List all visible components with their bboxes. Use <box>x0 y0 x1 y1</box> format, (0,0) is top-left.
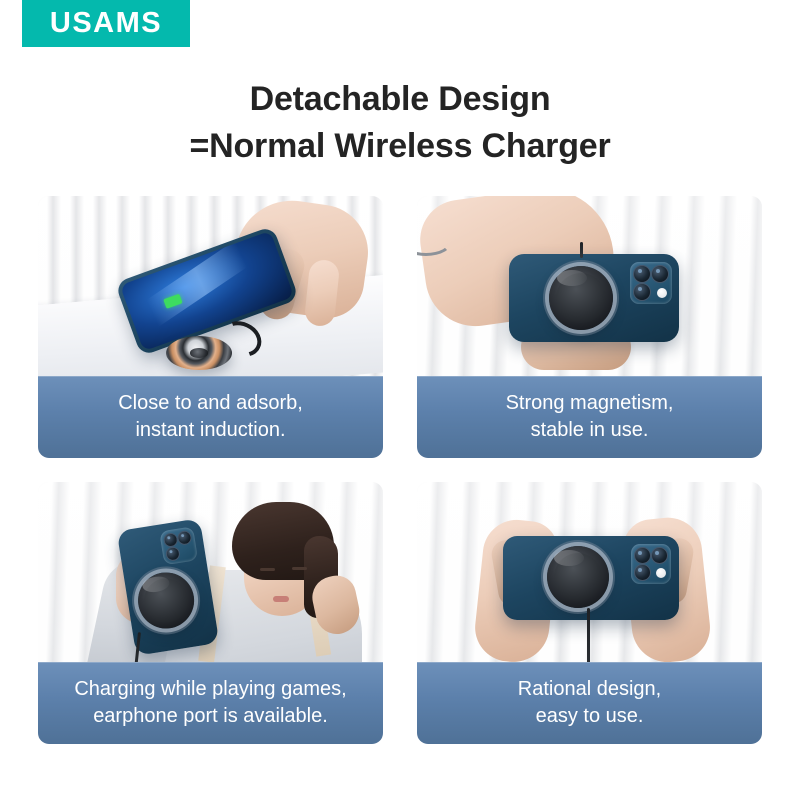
caption-line-1: Charging while playing games, <box>74 676 346 703</box>
camera-lens <box>634 564 651 581</box>
camera-lens <box>165 546 181 562</box>
magnetic-charger-puck <box>549 266 613 330</box>
caption-line-1: Strong magnetism, <box>506 390 674 417</box>
feature-photo-close-and-adsorb <box>38 196 383 376</box>
caption-line-1: Rational design, <box>518 676 661 703</box>
person-eye <box>292 567 307 570</box>
camera-lens <box>634 547 651 564</box>
phone-device <box>509 254 679 342</box>
camera-lens <box>163 532 179 548</box>
feature-card-close-and-adsorb: Close to and adsorb, instant induction. <box>38 196 383 458</box>
headline-line-1: Detachable Design <box>0 76 800 123</box>
feature-card-charging-while-gaming: Charging while playing games, earphone p… <box>38 482 383 744</box>
feature-caption-rational-design: Rational design, easy to use. <box>417 662 762 744</box>
caption-line-2: earphone port is available. <box>93 703 328 730</box>
page-title: Detachable Design =Normal Wireless Charg… <box>0 76 800 170</box>
camera-lens <box>633 283 651 301</box>
magnetic-charger-puck <box>547 546 609 608</box>
feature-photo-rational-design <box>417 482 762 662</box>
camera-lens <box>633 265 651 283</box>
camera-module <box>159 526 198 565</box>
camera-module <box>630 262 672 304</box>
caption-line-1: Close to and adsorb, <box>118 390 303 417</box>
person-mouth <box>273 596 289 602</box>
feature-caption-charging-while-gaming: Charging while playing games, earphone p… <box>38 662 383 744</box>
feature-photo-strong-magnetism <box>417 196 762 376</box>
charger-cable <box>580 242 583 258</box>
magnetic-charger-puck <box>134 568 198 632</box>
phone-device <box>503 536 679 620</box>
camera-flash <box>657 288 667 298</box>
camera-lens <box>651 547 668 564</box>
camera-lens <box>176 530 192 546</box>
headline-line-2: =Normal Wireless Charger <box>0 123 800 170</box>
feature-caption-close-and-adsorb: Close to and adsorb, instant induction. <box>38 376 383 458</box>
feature-photo-charging-while-gaming <box>38 482 383 662</box>
feature-grid: Close to and adsorb, instant induction. <box>38 196 762 744</box>
charger-cable <box>587 608 590 662</box>
caption-line-2: instant induction. <box>135 417 285 444</box>
brand-logo: USAMS <box>22 0 190 47</box>
brand-logo-text: USAMS <box>50 9 162 38</box>
camera-flash <box>656 568 666 578</box>
camera-module <box>631 544 671 584</box>
person-eye <box>260 568 275 571</box>
feature-card-rational-design: Rational design, easy to use. <box>417 482 762 744</box>
caption-line-2: stable in use. <box>531 417 649 444</box>
feature-caption-strong-magnetism: Strong magnetism, stable in use. <box>417 376 762 458</box>
caption-line-2: easy to use. <box>536 703 644 730</box>
camera-lens <box>651 265 669 283</box>
feature-card-strong-magnetism: Strong magnetism, stable in use. <box>417 196 762 458</box>
